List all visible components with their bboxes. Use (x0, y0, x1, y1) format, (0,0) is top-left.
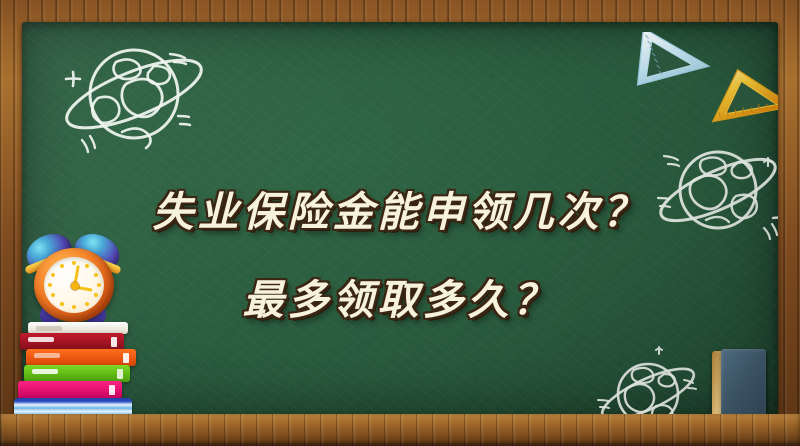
book-pink (18, 381, 122, 399)
clock-hub (71, 282, 79, 290)
planet-top-left-icon (58, 30, 208, 160)
standing-book-cover (721, 349, 766, 423)
poster-stage: 失业保险金能申领几次？ 最多领取多久？ (0, 0, 800, 446)
book-green (24, 365, 130, 382)
clock-case (34, 248, 114, 322)
sparkle-top-left-icon (62, 68, 84, 90)
planet-bottom-right-icon (596, 344, 706, 416)
clock-face (44, 257, 104, 313)
headline-line-1: 失业保险金能申领几次？ (0, 178, 800, 238)
triangle-ruler-blue-icon (626, 32, 712, 111)
book-darkred (20, 333, 124, 350)
triangle-ruler-yellow-icon (706, 64, 778, 141)
alarm-clock (22, 232, 126, 324)
book-orange (26, 349, 136, 366)
wood-ledge (0, 414, 800, 446)
